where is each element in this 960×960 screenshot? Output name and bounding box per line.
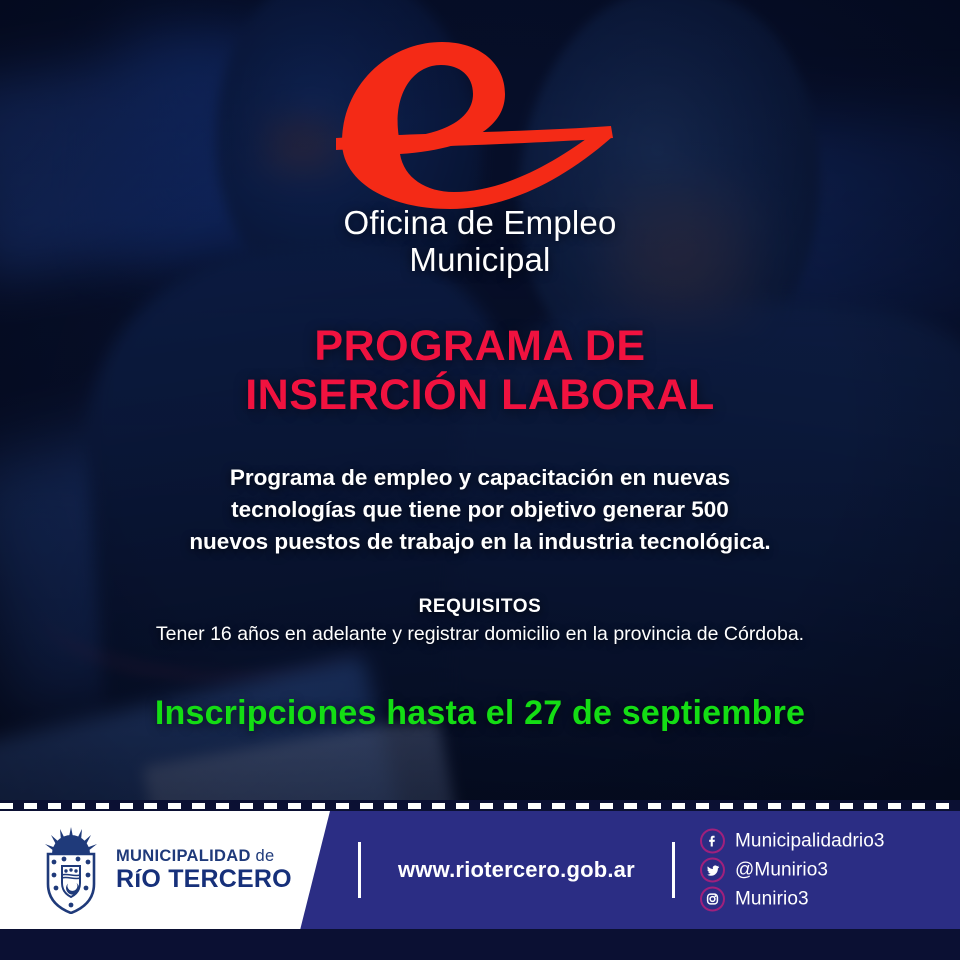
facebook-icon (700, 829, 725, 854)
deadline-text: Inscripciones hasta el 27 de septiembre (0, 694, 960, 733)
brand-municipalidad: MUNICIPALIDAD (116, 847, 251, 865)
footer-bar: MUNICIPALIDAD de RíO TERCERO www.rioterc… (0, 811, 960, 929)
page-title: PROGRAMA DE INSERCIÓN LABORAL (0, 322, 960, 420)
social-handle-twitter: @Munirio3 (735, 859, 828, 881)
requirements-text: Tener 16 años en adelante y registrar do… (60, 623, 900, 646)
social-handle-facebook: Municipalidadrio3 (735, 830, 885, 852)
municipality-brand: MUNICIPALIDAD de RíO TERCERO (40, 826, 292, 914)
social-links: Municipalidadrio3 @Munirio3 (700, 825, 885, 916)
brand-city-name: RíO TERCERO (116, 867, 292, 892)
social-item-facebook[interactable]: Municipalidadrio3 (700, 829, 885, 854)
requirements-title: REQUISITOS (60, 596, 900, 618)
headline-line1: PROGRAMA DE (0, 322, 960, 371)
instagram-icon (700, 887, 725, 912)
social-item-instagram[interactable]: Munirio3 (700, 887, 885, 912)
social-handle-instagram: Munirio3 (735, 888, 809, 910)
lead-line3: nuevos puestos de trabajo en la industri… (120, 526, 840, 558)
footer-divider-right (672, 842, 675, 898)
twitter-icon (700, 858, 725, 883)
footer-divider-left (358, 842, 361, 898)
letter-e-icon (330, 34, 630, 209)
dashed-separator (0, 800, 960, 811)
lead-line1: Programa de empleo y capacitación en nue… (120, 462, 840, 494)
promotional-poster: Oficina de Empleo Municipal PROGRAMA DE … (0, 0, 960, 960)
website-url[interactable]: www.riotercero.gob.ar (398, 857, 635, 883)
lead-paragraph: Programa de empleo y capacitación en nue… (120, 462, 840, 558)
social-item-twitter[interactable]: @Munirio3 (700, 858, 885, 883)
logo-title-line2: Municipal (0, 242, 960, 279)
oficina-de-empleo-logo: Oficina de Empleo Municipal (0, 34, 960, 279)
coat-of-arms-shield-icon (40, 826, 102, 914)
brand-line-1: MUNICIPALIDAD de (116, 848, 292, 865)
lead-line2: tecnologías que tiene por objetivo gener… (120, 494, 840, 526)
logo-title-line1: Oficina de Empleo (0, 205, 960, 242)
logo-title: Oficina de Empleo Municipal (0, 205, 960, 279)
brand-de: de (251, 847, 275, 865)
requirements-section: REQUISITOS Tener 16 años en adelante y r… (60, 596, 900, 646)
bottom-navy-bar (0, 929, 960, 960)
headline-line2: INSERCIÓN LABORAL (0, 371, 960, 420)
